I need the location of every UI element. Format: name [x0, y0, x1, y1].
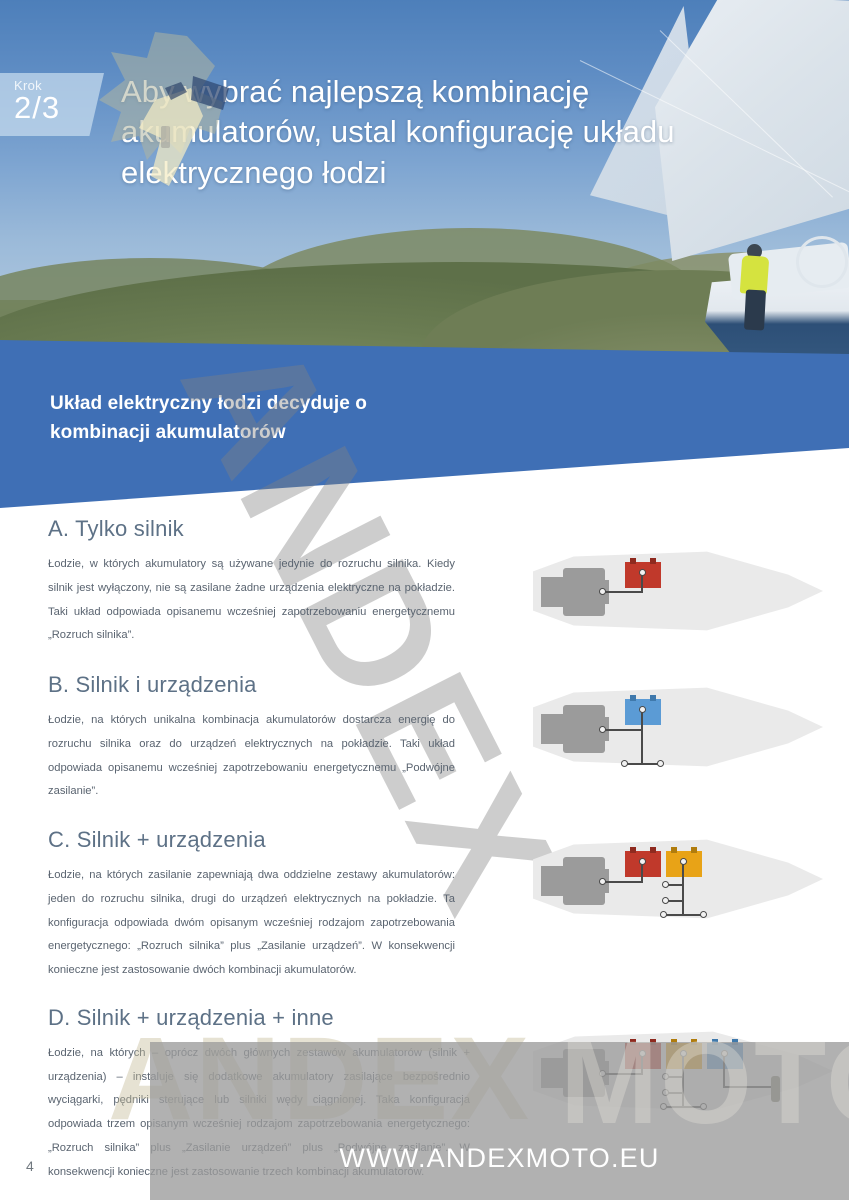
- wire-node: [680, 858, 687, 865]
- wire-node: [621, 760, 628, 767]
- wire-node: [599, 726, 606, 733]
- wire-node: [657, 760, 664, 767]
- hero-photo: Krok 2/3 Aby wybrać najlepszą kombinację…: [0, 0, 849, 370]
- page-number: 4: [26, 1158, 34, 1174]
- wire-node: [700, 911, 707, 918]
- section-a-heading: A. Tylko silnik: [0, 516, 849, 542]
- sailor-figure: [740, 244, 770, 328]
- boat-diagram-a: [523, 540, 838, 640]
- wire: [605, 729, 643, 731]
- wire: [663, 914, 703, 916]
- wire: [682, 861, 684, 914]
- boat-diagram-c: [523, 830, 838, 945]
- band-subtitle: Układ elektryczny łodzi decyduje o kombi…: [50, 390, 380, 448]
- wire-node: [599, 588, 606, 595]
- wire: [605, 591, 643, 593]
- wire-node: [639, 569, 646, 576]
- wire: [641, 709, 643, 765]
- wire: [625, 763, 661, 765]
- section-a-body: Łodzie, w których akumulatory są używane…: [0, 553, 455, 648]
- section-c-body: Łodzie, na których zasilanie zapewniają …: [0, 864, 455, 983]
- wire-node: [660, 911, 667, 918]
- boat-diagram-b: [523, 678, 838, 788]
- wire-node: [662, 897, 669, 904]
- footer-url[interactable]: WWW.ANDEXMOTO.EU: [150, 1143, 849, 1174]
- page-title: Aby wybrać najlepszą kombinację akumulat…: [121, 72, 761, 193]
- wire-node: [662, 881, 669, 888]
- wire-node: [639, 706, 646, 713]
- wire-node: [639, 858, 646, 865]
- brochure-page: Krok 2/3 Aby wybrać najlepszą kombinację…: [0, 0, 849, 1200]
- step-badge-number: 2/3: [14, 92, 104, 125]
- wire-node: [599, 878, 606, 885]
- step-badge: Krok 2/3: [0, 73, 104, 136]
- section-b-body: Łodzie, na których unikalna kombinacja a…: [0, 709, 455, 804]
- wire: [605, 881, 643, 883]
- footer-panel: [150, 1042, 849, 1200]
